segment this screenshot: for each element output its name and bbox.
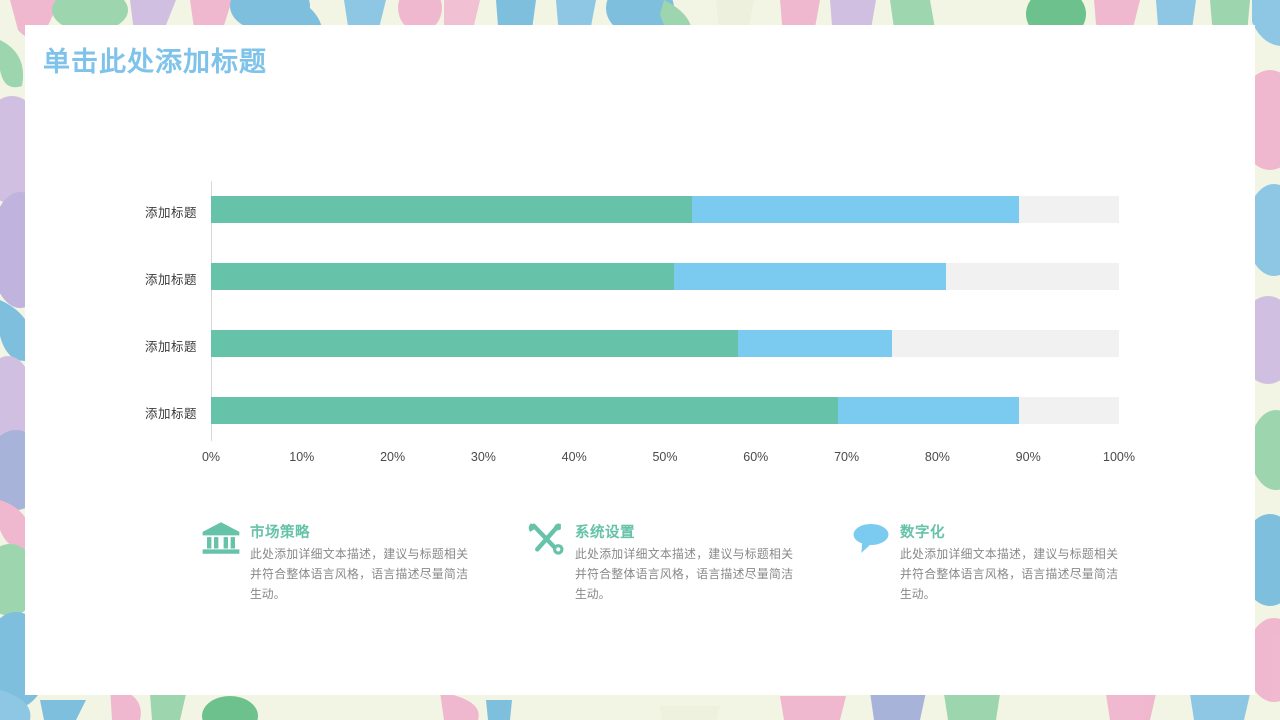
chart-x-tick-label: 30% — [471, 450, 496, 464]
chart-x-tick-label: 0% — [202, 450, 220, 464]
chart-bar-segment-series2[interactable] — [692, 196, 1019, 223]
chart-bar-segment-series2[interactable] — [838, 397, 1020, 424]
feature-title: 系统设置 — [575, 521, 635, 542]
feature-description: 此处添加详细文本描述，建议与标题相关并符合整体语言风格，语言描述尽量简洁生动。 — [575, 545, 793, 604]
chart-category-label: 添加标题 — [145, 403, 197, 422]
chart-x-tick-label: 40% — [562, 450, 587, 464]
slide-canvas: 单击此处添加标题 添加标题 添加标题 添加标题 添加标题 — [0, 0, 1280, 720]
chart-bar-row[interactable] — [211, 397, 1119, 424]
chart-bar-segment-series2[interactable] — [674, 263, 946, 290]
feature-title: 市场策略 — [250, 521, 310, 542]
chart-bar-row[interactable] — [211, 263, 1119, 290]
chart-x-tick-label: 20% — [380, 450, 405, 464]
feature-description: 此处添加详细文本描述，建议与标题相关并符合整体语言风格，语言描述尽量简洁生动。 — [250, 545, 468, 604]
chart-bar-row[interactable] — [211, 196, 1119, 223]
feature-title: 数字化 — [900, 521, 945, 542]
chart-x-tick-label: 90% — [1016, 450, 1041, 464]
chart-bar-row[interactable] — [211, 330, 1119, 357]
chart-bar-segment-series1[interactable] — [211, 196, 692, 223]
chart-category-label: 添加标题 — [145, 336, 197, 355]
chart-x-tick-label: 80% — [925, 450, 950, 464]
chart-x-tick-label: 10% — [289, 450, 314, 464]
chart-bar-segment-series2[interactable] — [738, 330, 892, 357]
chart-bar-segment-series1[interactable] — [211, 397, 838, 424]
feature-list: 市场策略 此处添加详细文本描述，建议与标题相关并符合整体语言风格，语言描述尽量简… — [0, 515, 1230, 635]
chart-category-label: 添加标题 — [145, 202, 197, 221]
chart-x-tick-label: 100% — [1103, 450, 1135, 464]
tools-icon — [525, 520, 567, 556]
bank-icon — [200, 520, 242, 556]
speech-bubble-icon — [850, 520, 892, 556]
chart-x-tick-label: 70% — [834, 450, 859, 464]
chart-x-tick-label: 60% — [743, 450, 768, 464]
chart-category-label: 添加标题 — [145, 269, 197, 288]
feature-description: 此处添加详细文本描述，建议与标题相关并符合整体语言风格，语言描述尽量简洁生动。 — [900, 545, 1118, 604]
chart-bar-segment-series1[interactable] — [211, 263, 674, 290]
chart-bar-segment-series1[interactable] — [211, 330, 738, 357]
chart-x-tick-label: 50% — [652, 450, 677, 464]
